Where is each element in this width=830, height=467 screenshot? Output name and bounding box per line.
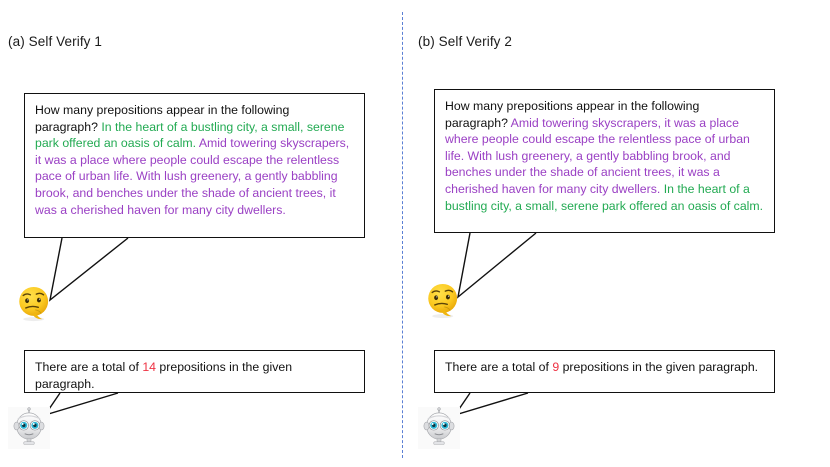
question-bubble-b: How many prepositions appear in the foll… [434,89,775,233]
question-bubble-a: How many prepositions appear in the foll… [24,93,365,238]
answer-count-a: 14 [142,360,156,374]
answer-bubble-a: There are a total of 14 prepositions in … [24,350,365,393]
answer-bubble-b: There are a total of 9 prepositions in t… [434,350,775,393]
thinking-face-emoji [423,280,465,322]
panel-divider [402,12,403,458]
answer-suffix-b: prepositions in the given paragraph. [559,360,758,374]
answer-prefix-b: There are a total of [445,360,552,374]
panel-self-verify-1: (a) Self Verify 1 How many prepositions … [0,0,400,467]
panel-title-a: (a) Self Verify 1 [8,34,102,49]
robot-face-emoji [8,407,50,449]
panel-self-verify-2: (b) Self Verify 2 [410,0,830,467]
robot-face-emoji [418,407,460,449]
answer-prefix-a: There are a total of [35,360,142,374]
panel-title-b: (b) Self Verify 2 [418,34,512,49]
thinking-face-emoji [14,283,56,325]
